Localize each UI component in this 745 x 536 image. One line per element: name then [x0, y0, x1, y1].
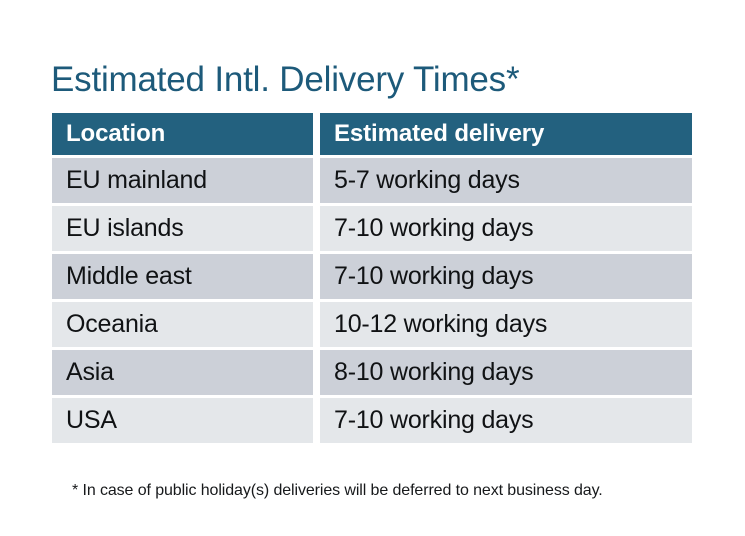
table-body: EU mainland5-7 working daysEU islands7-1…	[52, 158, 692, 443]
cell-location: EU mainland	[52, 158, 313, 203]
cell-location: USA	[52, 398, 313, 443]
page-title: Estimated Intl. Delivery Times*	[51, 57, 519, 103]
cell-delivery: 5-7 working days	[320, 158, 692, 203]
column-header-location: Location	[52, 113, 313, 155]
cell-delivery: 7-10 working days	[320, 206, 692, 251]
table-header: Location Estimated delivery	[52, 113, 692, 155]
cell-delivery: 7-10 working days	[320, 398, 692, 443]
cell-delivery: 10-12 working days	[320, 302, 692, 347]
table-row: EU mainland5-7 working days	[52, 158, 692, 203]
cell-delivery: 7-10 working days	[320, 254, 692, 299]
table-row: Asia8-10 working days	[52, 350, 692, 395]
table-header-row: Location Estimated delivery	[52, 113, 692, 155]
cell-location: Oceania	[52, 302, 313, 347]
column-header-delivery: Estimated delivery	[320, 113, 692, 155]
table-row: Oceania10-12 working days	[52, 302, 692, 347]
table-row: EU islands7-10 working days	[52, 206, 692, 251]
table-row: Middle east7-10 working days	[52, 254, 692, 299]
cell-location: Asia	[52, 350, 313, 395]
table-row: USA7-10 working days	[52, 398, 692, 443]
delivery-times-table-container: Location Estimated delivery EU mainland5…	[52, 113, 692, 443]
cell-location: Middle east	[52, 254, 313, 299]
footnote: * In case of public holiday(s) deliverie…	[72, 480, 603, 502]
delivery-times-table: Location Estimated delivery EU mainland5…	[45, 110, 699, 446]
delivery-times-page: Estimated Intl. Delivery Times* Location…	[0, 0, 745, 536]
cell-location: EU islands	[52, 206, 313, 251]
cell-delivery: 8-10 working days	[320, 350, 692, 395]
